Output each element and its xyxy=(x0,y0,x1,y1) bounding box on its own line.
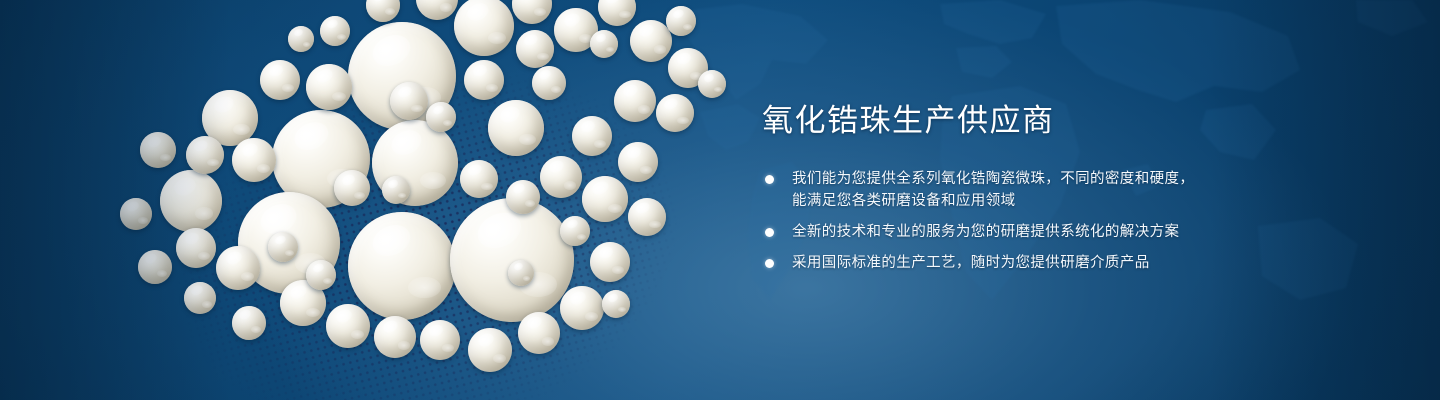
bullet-dot-icon xyxy=(765,259,774,268)
benefit-list: 我们能为您提供全系列氧化锆陶瓷微珠，不同的密度和硬度， 能满足您各类研磨设备和应… xyxy=(762,168,1322,274)
bullet-dot-icon xyxy=(765,175,774,184)
bullet-dot-icon xyxy=(765,228,774,237)
benefit-text-line: 我们能为您提供全系列氧化锆陶瓷微珠，不同的密度和硬度， xyxy=(792,168,1322,190)
benefit-text-line: 全新的技术和专业的服务为您的研磨提供系统化的解决方案 xyxy=(792,221,1322,243)
benefit-list-item: 采用国际标准的生产工艺，随时为您提供研磨介质产品 xyxy=(762,252,1322,274)
hero-banner: 氧化锆珠生产供应商 我们能为您提供全系列氧化锆陶瓷微珠，不同的密度和硬度， 能满… xyxy=(0,0,1440,400)
banner-copy: 氧化锆珠生产供应商 我们能为您提供全系列氧化锆陶瓷微珠，不同的密度和硬度， 能满… xyxy=(762,104,1322,274)
banner-headline: 氧化锆珠生产供应商 xyxy=(762,104,1322,140)
benefit-list-item: 我们能为您提供全系列氧化锆陶瓷微珠，不同的密度和硬度， 能满足您各类研磨设备和应… xyxy=(762,168,1322,212)
benefit-text-line: 采用国际标准的生产工艺，随时为您提供研磨介质产品 xyxy=(792,252,1322,274)
benefit-list-item: 全新的技术和专业的服务为您的研磨提供系统化的解决方案 xyxy=(762,221,1322,243)
benefit-text-line: 能满足您各类研磨设备和应用领域 xyxy=(792,190,1322,212)
